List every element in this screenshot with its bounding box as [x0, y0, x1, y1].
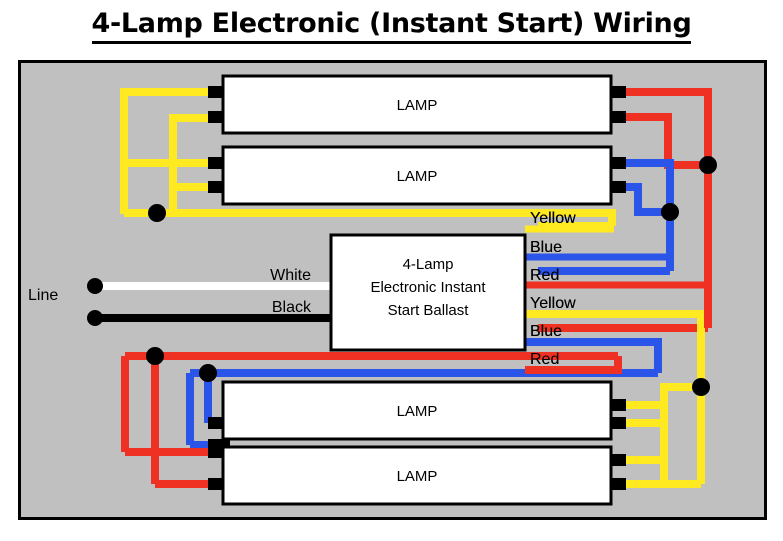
ballast-lead-label-5-top: Blue [530, 323, 562, 340]
diagram-page: 4-Lamp Electronic (Instant Start) Wiring [0, 0, 783, 541]
ballast-lead-label-2-top: Blue [530, 239, 562, 256]
lamp-4-label: LAMP [397, 468, 438, 485]
ballast-lead-label-6-top: Red [530, 351, 559, 368]
ballast-lead-label-1-top: Yellow [530, 210, 576, 227]
ballast-label-line1-overlay: 4-Lamp [403, 256, 454, 273]
junction-dot-yellow-top [148, 204, 166, 222]
page-title: 4-Lamp Electronic (Instant Start) Wiring [0, 8, 783, 39]
junction-dot-blue-bottom [199, 364, 217, 382]
ballast-lead-label-4-top: Yellow [530, 295, 576, 312]
junction-dot-yellow-bottom [692, 378, 710, 396]
lamp-2-label: LAMP [397, 168, 438, 185]
wiring-diagram: LAMP LAMP Line White Black 4-Lamp Electr… [18, 60, 767, 520]
ballast-label-line2-overlay: Electronic Instant [370, 279, 486, 296]
line-wire-label-black: Black [272, 299, 312, 316]
line-terminal-white [87, 278, 103, 294]
ballast-label-line3-overlay: Start Ballast [388, 302, 470, 319]
junction-dot-red-top [699, 156, 717, 174]
line-wire-label-white: White [270, 267, 311, 284]
lamp-1-label: LAMP [397, 97, 438, 114]
junction-dot-red-bottom [146, 347, 164, 365]
line-terminal-black [87, 310, 103, 326]
lamp-3-label: LAMP [397, 403, 438, 420]
page-title-text: 4-Lamp Electronic (Instant Start) Wiring [92, 8, 692, 44]
line-label: Line [28, 287, 58, 304]
junction-dot-blue-top [661, 203, 679, 221]
ballast-lead-label-3-top: Red [530, 267, 559, 284]
